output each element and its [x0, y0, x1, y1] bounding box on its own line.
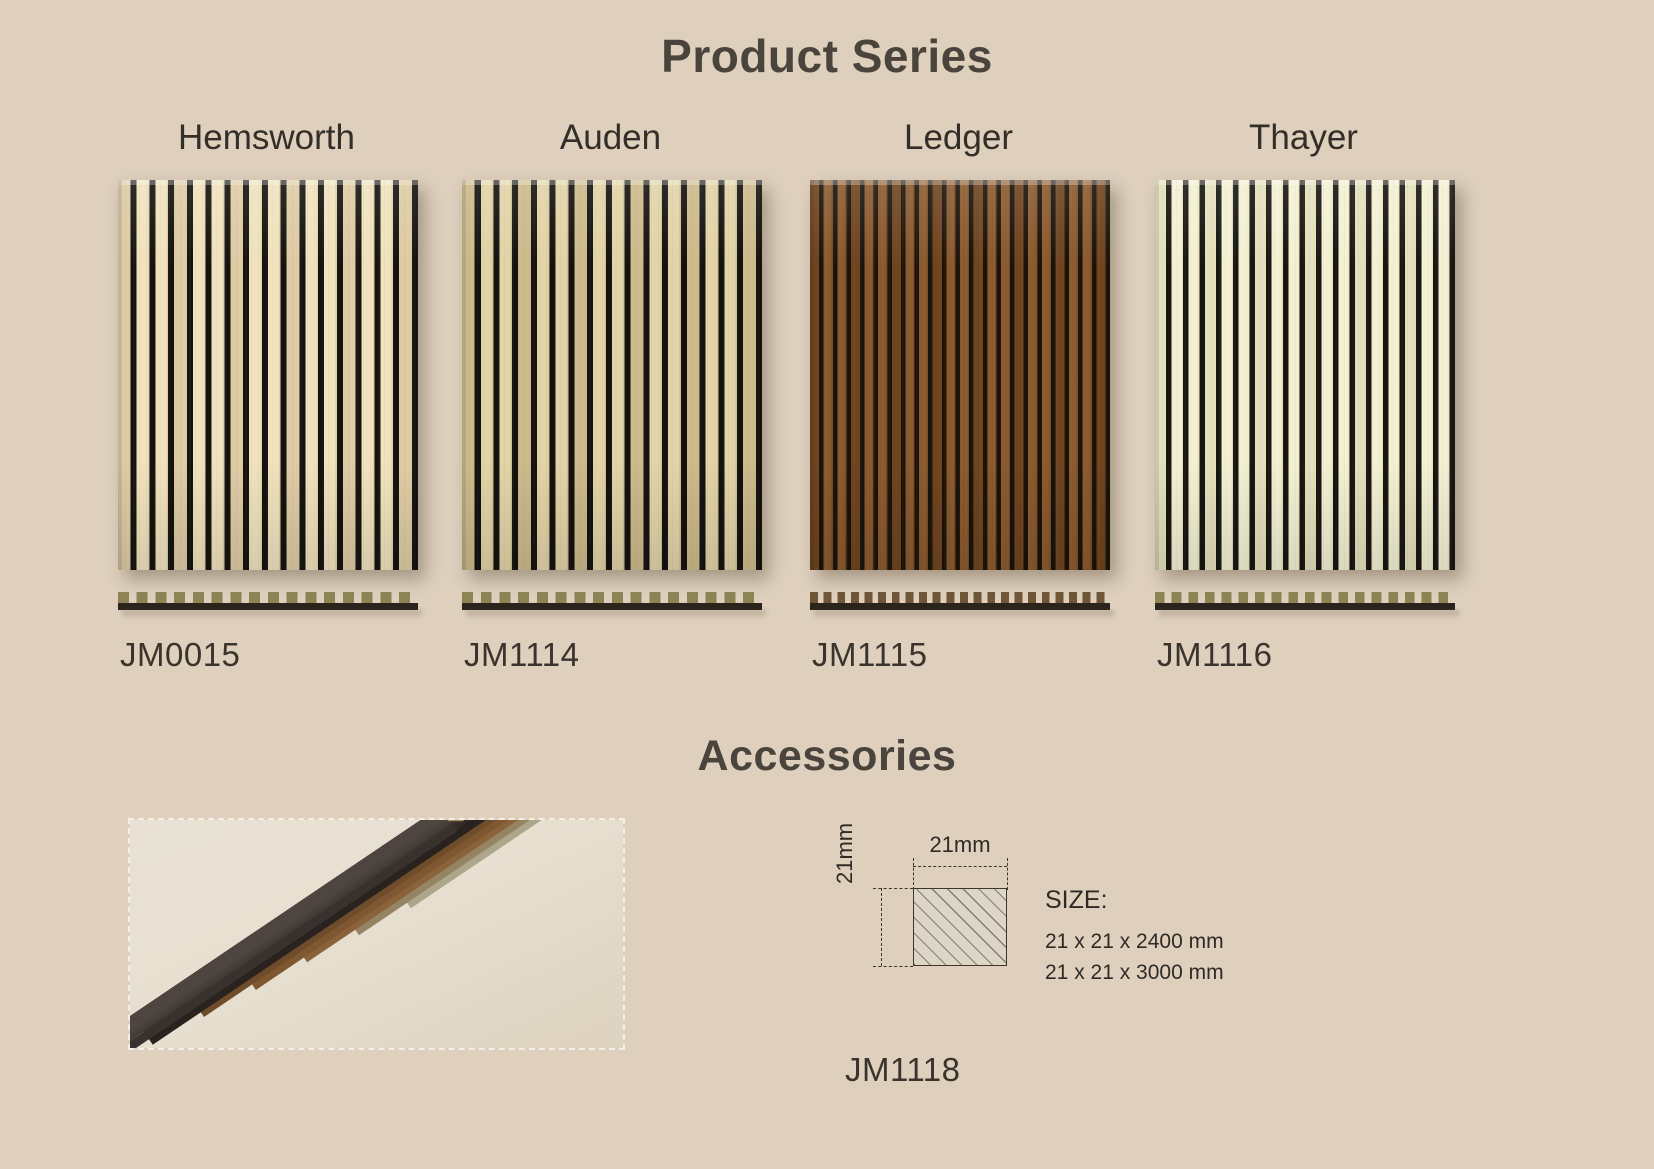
panel-top-edge: [118, 180, 418, 185]
cross-section-base: [118, 603, 418, 610]
cross-section-base: [1155, 603, 1455, 610]
panel-left-edge: [118, 180, 122, 570]
wood-grain-overlay: [810, 180, 1110, 570]
cross-section-shadow: [1159, 610, 1459, 619]
product-card-ledger[interactable]: Ledger JM1115: [800, 118, 1160, 674]
page-title-accessories: Accessories: [0, 732, 1654, 781]
slat-pattern: [1155, 180, 1455, 570]
cross-section-diagram: [1155, 592, 1455, 612]
accessories-section: 21mm 21mm SIZE: 21 x 21 x 2400 mm 21 x 2…: [0, 806, 1654, 1096]
panel-lighting-overlay: [462, 180, 762, 570]
dimension-width-label: 21mm: [900, 832, 1020, 858]
panel-left-edge: [462, 180, 466, 570]
slat-pattern: [118, 180, 418, 570]
cross-section-diagram: [118, 592, 418, 612]
panel-left-edge: [1155, 180, 1159, 570]
cross-section-shadow: [466, 610, 766, 619]
dim-ext-line-bottom-left: [873, 966, 913, 967]
panel-lighting-overlay: [810, 180, 1110, 570]
size-option-1: 21 x 21 x 2400 mm: [1045, 926, 1224, 957]
product-code-label: JM0015: [120, 636, 468, 674]
panel-top-edge: [1155, 180, 1455, 185]
product-card-hemsworth[interactable]: Hemsworth JM0015: [108, 118, 468, 674]
size-option-2: 21 x 21 x 3000 mm: [1045, 957, 1224, 988]
panel-lighting-overlay: [1155, 180, 1455, 570]
dim-box-left: [881, 888, 882, 966]
cross-section-teeth: [462, 592, 762, 603]
cross-section-diagram: [462, 592, 762, 612]
cross-section-base: [810, 603, 1110, 610]
dimension-diagram: 21mm 21mm SIZE: 21 x 21 x 2400 mm 21 x 2…: [840, 826, 1260, 1066]
page-title-product-series: Product Series: [0, 29, 1654, 83]
slat-pattern: [462, 180, 762, 570]
wood-grain-overlay: [462, 180, 762, 570]
series-name-label: Auden: [458, 118, 763, 158]
series-name-label: Hemsworth: [114, 118, 419, 158]
cross-section-shadow: [814, 610, 1114, 619]
dim-ext-line-right-top: [1007, 858, 1008, 890]
series-name-label: Thayer: [1151, 118, 1456, 158]
dimension-cross-section-square: [913, 888, 1007, 966]
series-name-label: Ledger: [806, 118, 1111, 158]
cross-section-shadow: [122, 610, 422, 619]
dim-box-top: [913, 866, 1007, 867]
catalog-page: Product Series Hemsworth JM0015 Auden: [0, 0, 1654, 1169]
panel-sample-image: [810, 180, 1110, 570]
panel-top-edge: [810, 180, 1110, 185]
cross-section-teeth: [810, 592, 1110, 603]
panel-sample-image: [1155, 180, 1455, 570]
product-code-label: JM1114: [464, 636, 812, 674]
accessory-sticks-photo: [130, 820, 623, 1048]
batten-side-face: [130, 824, 457, 1048]
wood-grain-overlay: [118, 180, 418, 570]
panel-lighting-overlay: [118, 180, 418, 570]
cross-section-diagram: [810, 592, 1110, 612]
product-card-thayer[interactable]: Thayer JM1116: [1145, 118, 1505, 674]
accessory-sticks-frame: [128, 818, 625, 1050]
size-label: SIZE:: [1045, 886, 1224, 915]
cross-section-teeth: [118, 592, 418, 603]
product-series-row: Hemsworth JM0015 Auden: [0, 118, 1654, 698]
wood-grain-overlay: [1155, 180, 1455, 570]
product-card-auden[interactable]: Auden JM1114: [452, 118, 812, 674]
panel-sample-image: [462, 180, 762, 570]
panel-left-edge: [810, 180, 814, 570]
cross-section-teeth: [1155, 592, 1455, 603]
accessory-code-label: JM1118: [845, 1051, 961, 1089]
size-spec-block: SIZE: 21 x 21 x 2400 mm 21 x 21 x 3000 m…: [1045, 886, 1224, 988]
panel-sample-image: [118, 180, 418, 570]
dim-ext-line-left-top: [913, 858, 914, 890]
accessory-batten: [130, 820, 452, 1048]
cross-section-base: [462, 603, 762, 610]
dim-ext-line-top-left: [873, 888, 913, 889]
product-code-label: JM1115: [812, 636, 1160, 674]
dimension-height-label: 21mm: [832, 823, 858, 884]
product-code-label: JM1116: [1157, 636, 1505, 674]
slat-pattern: [810, 180, 1110, 570]
panel-top-edge: [462, 180, 762, 185]
